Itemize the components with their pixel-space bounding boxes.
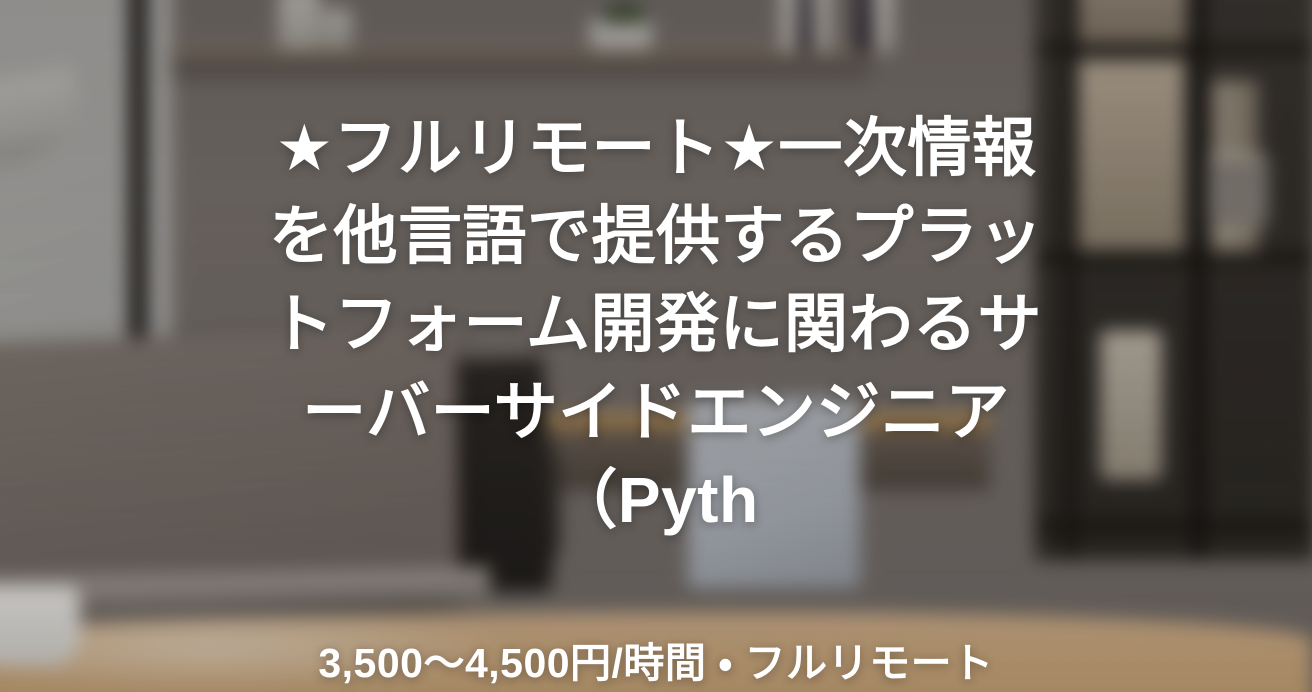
banner-text-content: ★フルリモート★一次情報を他言語で提供するプラットフォーム開発に関わるサーバーサ… xyxy=(0,0,1312,692)
job-title-headline: ★フルリモート★一次情報を他言語で提供するプラットフォーム開発に関わるサーバーサ… xyxy=(256,104,1056,544)
job-posting-banner: ★フルリモート★一次情報を他言語で提供するプラットフォーム開発に関わるサーバーサ… xyxy=(0,0,1312,692)
job-conditions-subline: 3,500〜4,500円/時間 ・ フルリモート xyxy=(318,544,993,690)
